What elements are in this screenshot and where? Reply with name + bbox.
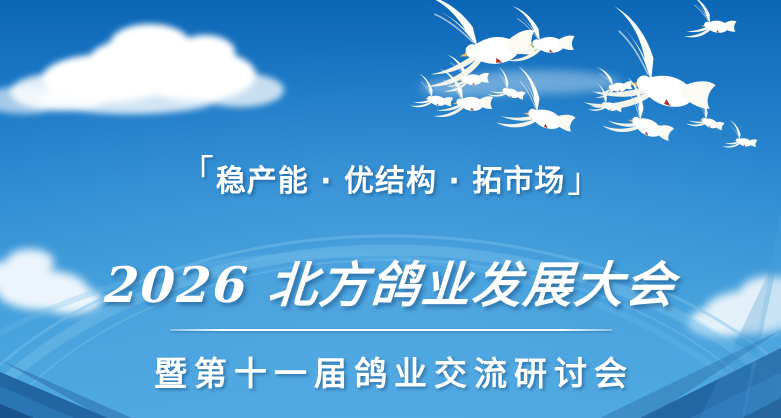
dove-flock <box>0 0 781 418</box>
conference-poster: 「 稳产能 · 优结构 · 拓市场 」 2026 北方鸽业发展大会 暨第十一届鸽… <box>0 0 781 418</box>
dove-mid-5 <box>682 0 737 38</box>
dove-mid-2 <box>496 64 583 138</box>
dove-small-7 <box>722 120 759 150</box>
